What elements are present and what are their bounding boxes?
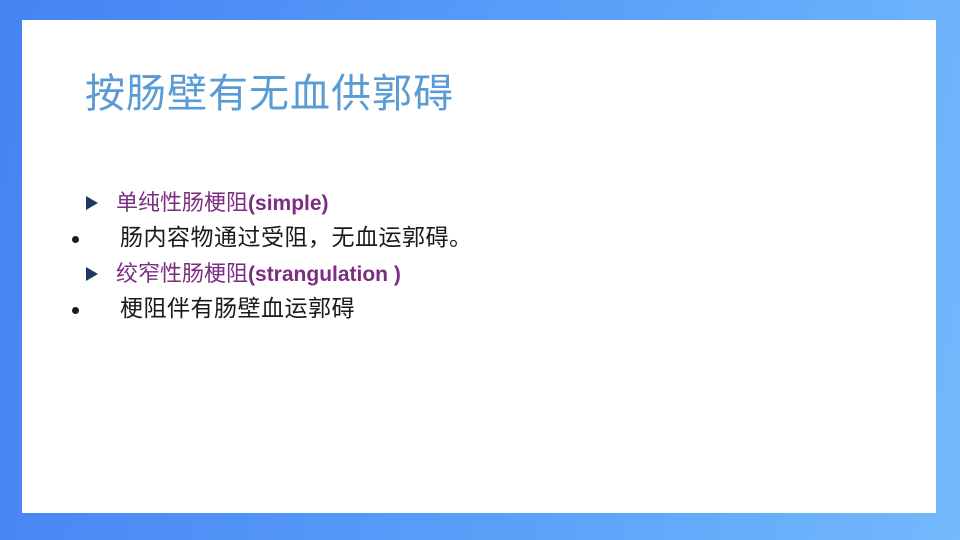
- dot-icon: [72, 301, 120, 319]
- slide-content-area: 按肠壁有无血供郭碍 单纯性肠梗阻(simple) 肠内容物通过受阻，无血运郭碍。: [22, 20, 936, 513]
- bullet-text-cjk: 绞窄性肠梗阻: [116, 261, 248, 286]
- bullet-text: 绞窄性肠梗阻(strangulation ): [116, 259, 401, 289]
- dot-icon: [72, 230, 120, 248]
- bullet-text-latin: (simple): [248, 192, 329, 215]
- bullet-text: 肠内容物通过受阻，无血运郭碍。: [120, 223, 473, 254]
- list-item: 绞窄性肠梗阻(strangulation ): [68, 259, 906, 289]
- bullet-text: 梗阻伴有肠壁血运郭碍: [120, 294, 355, 325]
- bullet-list: 单纯性肠梗阻(simple) 肠内容物通过受阻，无血运郭碍。 绞窄性肠梗阻(st…: [68, 188, 906, 325]
- triangle-right-icon: [86, 265, 116, 283]
- list-item: 梗阻伴有肠壁血运郭碍: [68, 294, 906, 325]
- slide: 按肠壁有无血供郭碍 单纯性肠梗阻(simple) 肠内容物通过受阻，无血运郭碍。: [0, 0, 960, 540]
- bullet-text: 单纯性肠梗阻(simple): [116, 188, 329, 218]
- list-item: 单纯性肠梗阻(simple): [68, 188, 906, 218]
- bullet-text-cjk: 单纯性肠梗阻: [116, 190, 248, 215]
- slide-title: 按肠壁有无血供郭碍: [85, 72, 454, 117]
- list-item: 肠内容物通过受阻，无血运郭碍。: [68, 223, 906, 254]
- triangle-right-icon: [86, 194, 116, 212]
- bullet-text-latin: (strangulation ): [248, 263, 401, 286]
